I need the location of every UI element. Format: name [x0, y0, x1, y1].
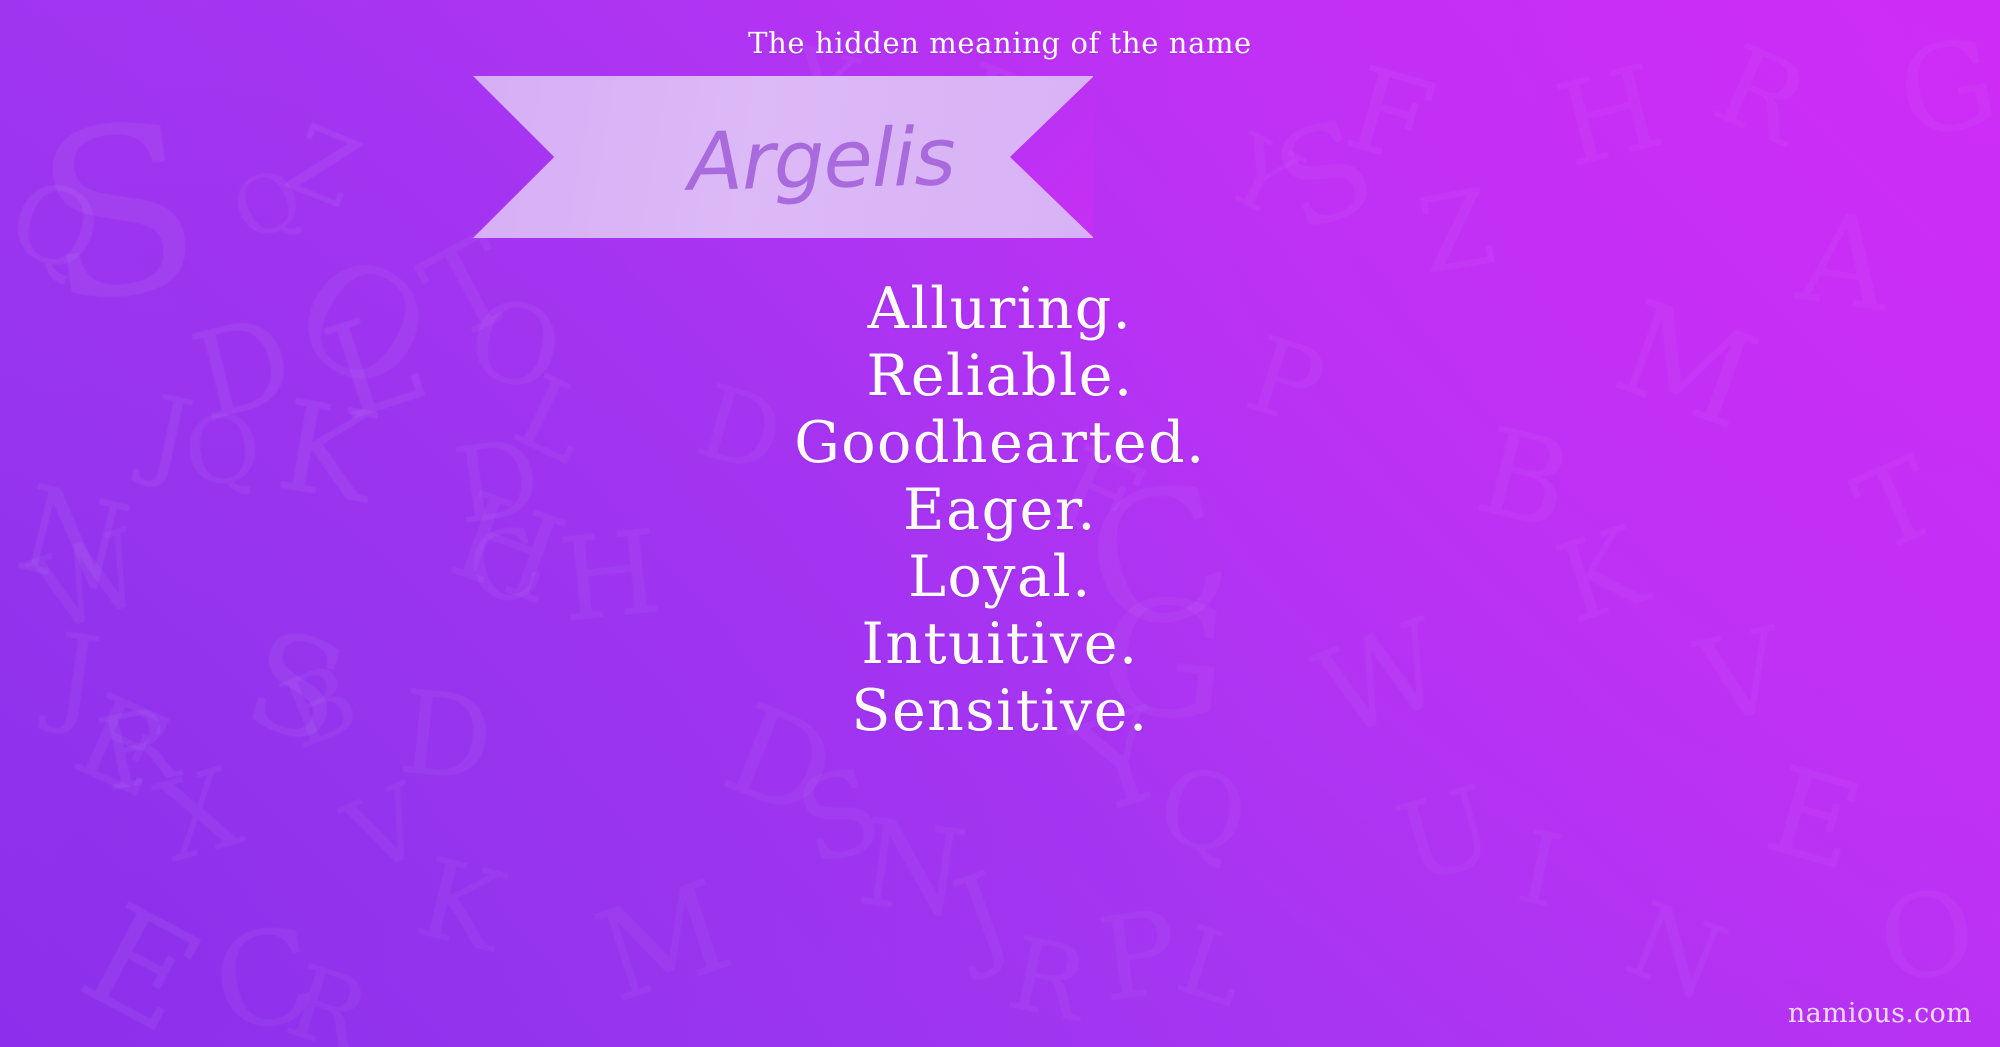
name-meaning-card: SQDZQJQOLNWJRESBKXECRDTODHCLHDSYADSNJRPL…: [0, 0, 2000, 1047]
trait-line: Intuitive.: [0, 611, 2000, 678]
trait-line: Alluring.: [0, 276, 2000, 343]
name-banner: Argelis: [473, 76, 1093, 238]
trait-line: Loyal.: [0, 544, 2000, 611]
trait-line: Goodhearted.: [0, 410, 2000, 477]
trait-list: Alluring.Reliable.Goodhearted.Eager.Loya…: [0, 276, 2000, 745]
site-watermark: namious.com: [1788, 998, 1972, 1029]
trait-line: Sensitive.: [0, 678, 2000, 745]
page-title: The hidden meaning of the name: [0, 26, 2000, 60]
trait-line: Eager.: [0, 477, 2000, 544]
name-text: Argelis: [687, 110, 956, 209]
trait-line: Reliable.: [0, 343, 2000, 410]
